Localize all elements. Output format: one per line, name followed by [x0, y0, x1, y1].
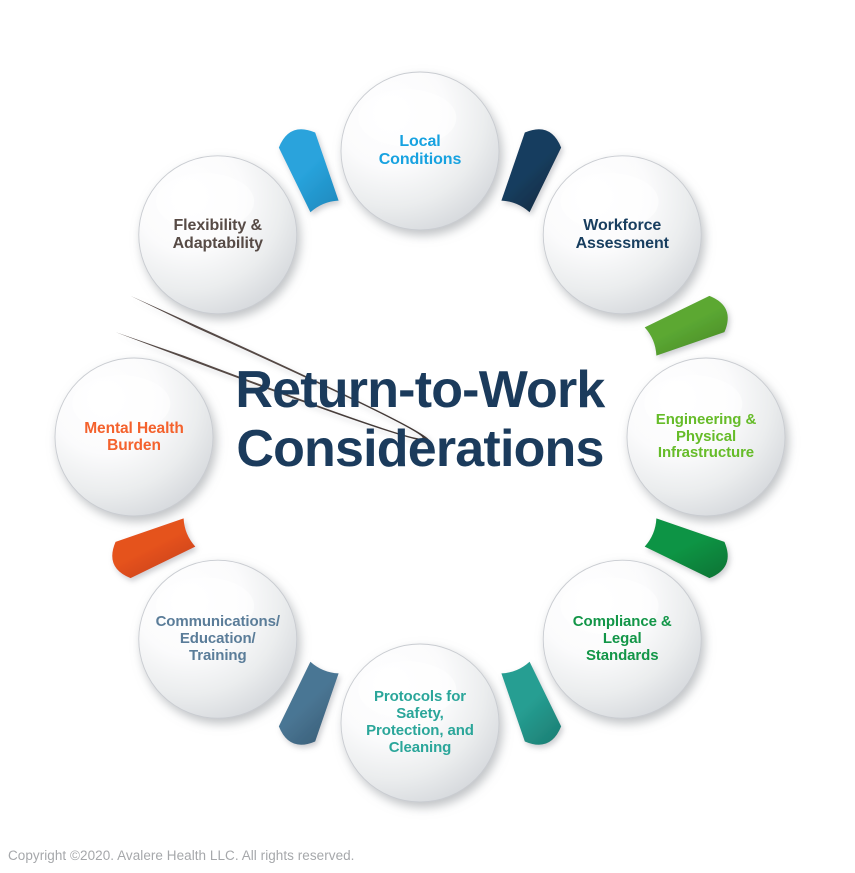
node-circle-local-conditions[interactable]	[341, 72, 499, 230]
node-circle-protocols-safety-protection-cleaning[interactable]	[341, 644, 499, 802]
node-circle-compliance-legal-standards[interactable]	[543, 560, 701, 718]
node-circle-flexibility-adaptability[interactable]	[139, 156, 297, 314]
node-circle-workforce-assessment[interactable]	[543, 156, 701, 314]
copyright-notice: Copyright ©2020. Avalere Health LLC. All…	[8, 848, 354, 863]
node-circle-communications-education-training[interactable]	[139, 560, 297, 718]
page-title: Return-to-Work Considerations	[185, 361, 655, 479]
cycle-diagram: Return-to-Work Considerations Local Cond…	[0, 0, 855, 873]
